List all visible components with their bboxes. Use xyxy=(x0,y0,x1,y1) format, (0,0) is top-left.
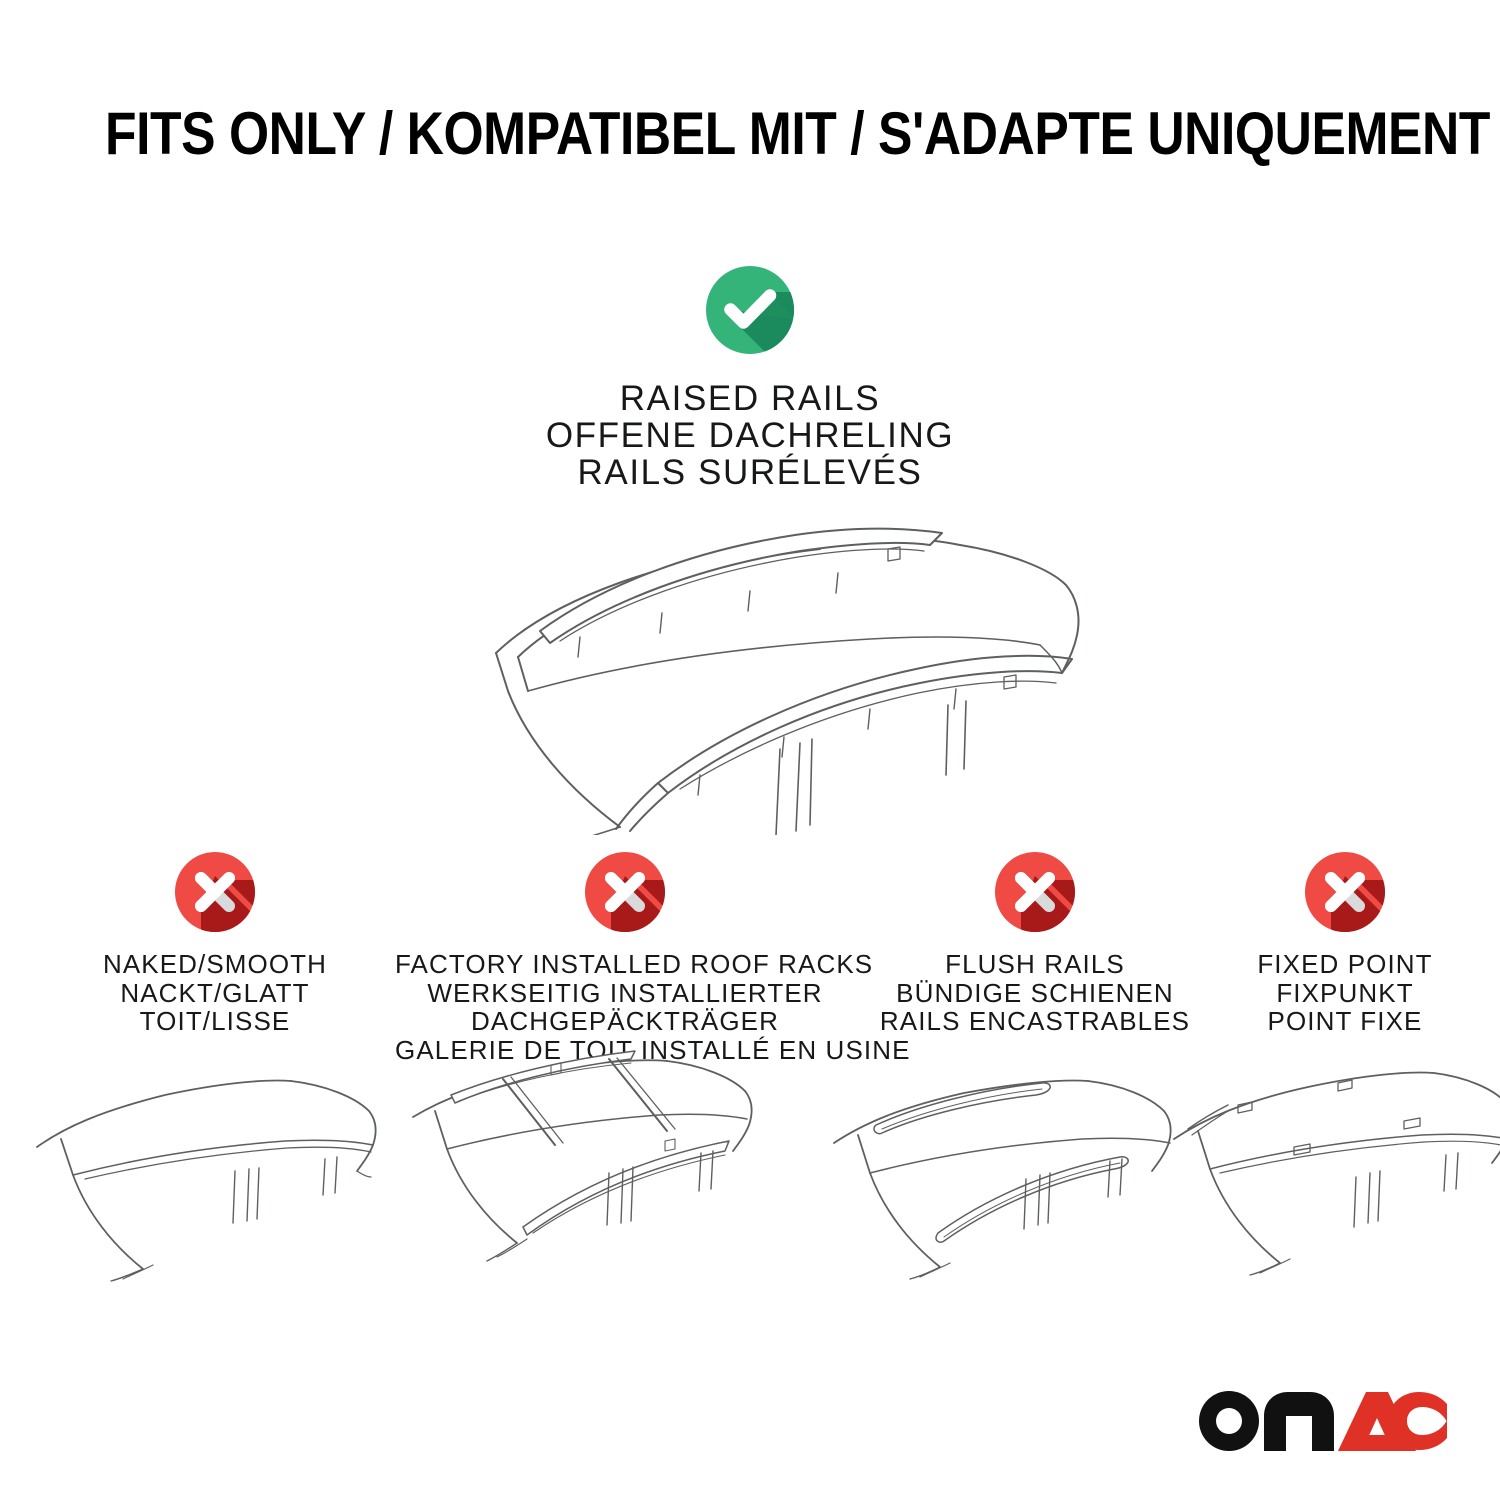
incompatible-item-fixed-point: FIXED POINT FIXPUNKT POINT FIXE xyxy=(1205,848,1485,1036)
page-header: FITS ONLY / KOMPATIBEL MIT / S'ADAPTE UN… xyxy=(0,100,1500,168)
incompatible-label-de: NACKT/GLATT xyxy=(30,979,400,1008)
compatible-label-en: RAISED RAILS xyxy=(0,380,1500,417)
incompatible-labels: NAKED/SMOOTH NACKT/GLATT TOIT/LISSE xyxy=(30,950,400,1036)
incompatible-label-de-2: DACHGEPÄCKTRÄGER xyxy=(395,1007,855,1036)
compatible-labels: RAISED RAILS OFFENE DACHRELING RAILS SUR… xyxy=(0,380,1500,491)
incompatible-labels: FIXED POINT FIXPUNKT POINT FIXE xyxy=(1205,950,1485,1036)
incompatible-label-de: BÜNDIGE SCHIENEN xyxy=(855,979,1215,1008)
compatible-label-de: OFFENE DACHRELING xyxy=(0,417,1500,454)
compatible-section: RAISED RAILS OFFENE DACHRELING RAILS SUR… xyxy=(0,262,1500,491)
incompatible-labels: FLUSH RAILS BÜNDIGE SCHIENEN RAILS ENCAS… xyxy=(855,950,1215,1036)
omac-logo xyxy=(1198,1390,1448,1452)
incompatible-label-de-1: WERKSEITIG INSTALLIERTER xyxy=(395,979,855,1008)
cross-circle-icon xyxy=(581,848,669,936)
incompatible-label-en: NAKED/SMOOTH xyxy=(30,950,400,979)
incompatible-label-fr: RAILS ENCASTRABLES xyxy=(855,1007,1215,1036)
incompatible-item-factory-roof-racks: FACTORY INSTALLED ROOF RACKS WERKSEITIG … xyxy=(395,848,855,1064)
roof-illustration-factory-roof-racks xyxy=(395,1045,815,1275)
check-circle-icon xyxy=(702,262,798,358)
incompatible-item-flush-rails: FLUSH RAILS BÜNDIGE SCHIENEN RAILS ENCAS… xyxy=(855,848,1215,1036)
incompatible-label-de: FIXPUNKT xyxy=(1205,979,1485,1008)
incompatible-label-fr: TOIT/LISSE xyxy=(30,1007,400,1036)
incompatible-label-en: FLUSH RAILS xyxy=(855,950,1215,979)
roof-illustration-naked-smooth xyxy=(25,1055,425,1285)
roof-illustration-fixed-point xyxy=(1160,1055,1500,1285)
incompatible-item-naked-smooth: NAKED/SMOOTH NACKT/GLATT TOIT/LISSE xyxy=(30,848,400,1036)
incompatible-label-en: FIXED POINT xyxy=(1205,950,1485,979)
page-title: FITS ONLY / KOMPATIBEL MIT / S'ADAPTE UN… xyxy=(105,100,1395,168)
cross-circle-icon xyxy=(991,848,1079,936)
incompatible-label-fr: POINT FIXE xyxy=(1205,1007,1485,1036)
compatible-label-fr: RAILS SURÉLEVÉS xyxy=(0,454,1500,491)
cross-circle-icon xyxy=(171,848,259,936)
incompatible-label-en: FACTORY INSTALLED ROOF RACKS xyxy=(395,950,855,979)
cross-circle-icon xyxy=(1301,848,1389,936)
roof-illustration-raised-rails xyxy=(400,505,1100,835)
incompatible-section: NAKED/SMOOTH NACKT/GLATT TOIT/LISSE xyxy=(0,848,1500,1078)
